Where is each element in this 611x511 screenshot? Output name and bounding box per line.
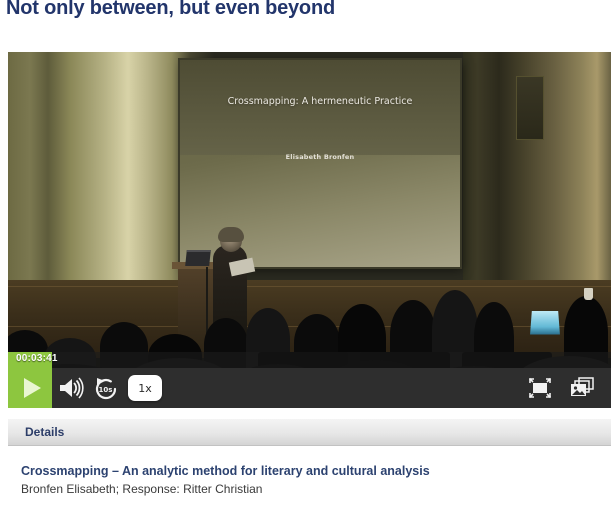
paper-cup — [584, 288, 593, 300]
rewind-seconds-label: 10s — [99, 386, 113, 394]
slide-title: Crossmapping: A hermeneutic Practice — [180, 94, 460, 109]
slides-gallery-icon — [568, 376, 596, 400]
current-time-label: 00:03:41 — [16, 353, 58, 364]
lecture-title: Crossmapping – An analytic method for li… — [21, 464, 430, 478]
lecture-speakers: Bronfen Elisabeth; Response: Ritter Chri… — [21, 482, 262, 496]
slide-author: Elisabeth Bronfen — [180, 153, 460, 161]
audience-laptop-screen — [530, 311, 560, 335]
video-player[interactable]: Crossmapping: A hermeneutic Practice Eli… — [8, 52, 611, 408]
volume-button[interactable] — [52, 368, 90, 408]
progress-bar[interactable]: 00:03:41 — [8, 352, 611, 368]
page-title: Not only between, but even beyond — [6, 0, 335, 20]
slides-gallery-button[interactable] — [561, 368, 603, 408]
details-header-bar[interactable]: Details — [8, 419, 611, 446]
playback-speed-button[interactable]: 1x — [128, 375, 162, 401]
play-button[interactable] — [8, 368, 52, 408]
details-header-label: Details — [25, 425, 64, 439]
details-content: Crossmapping – An analytic method for li… — [8, 446, 611, 511]
play-icon — [24, 378, 41, 398]
player-controls[interactable]: 10s 1x — [8, 368, 611, 408]
hall-window — [516, 76, 544, 140]
fullscreen-icon — [526, 376, 554, 400]
rewind-10s-button[interactable]: 10s — [90, 368, 122, 408]
fullscreen-button[interactable] — [519, 368, 561, 408]
laptop — [185, 250, 211, 266]
rewind-10s-icon: 10s — [93, 376, 119, 400]
speaker-hair — [218, 227, 244, 242]
volume-icon — [58, 377, 84, 399]
